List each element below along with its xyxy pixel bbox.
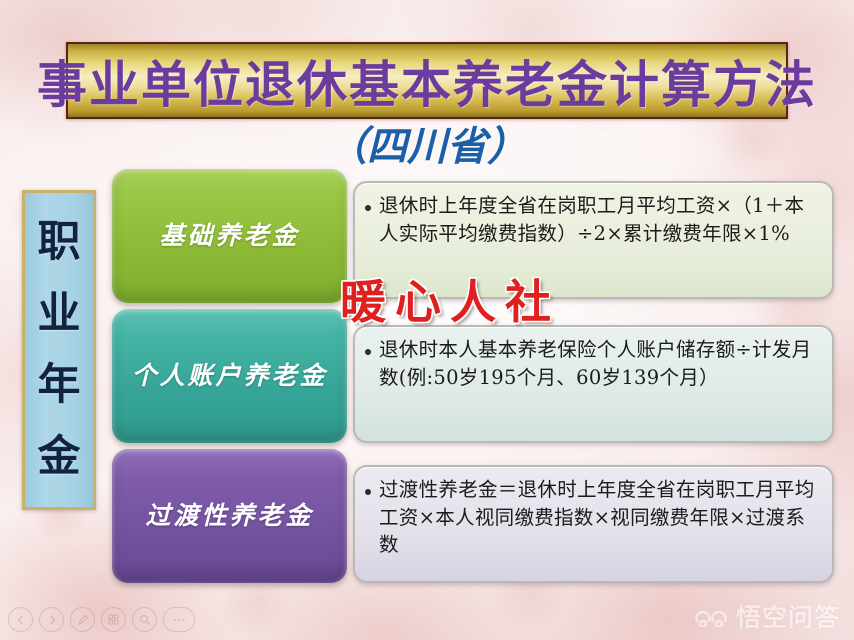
pen-icon	[77, 614, 89, 626]
presentation-controls[interactable]	[8, 607, 195, 632]
brand-watermark: 悟空问答	[694, 598, 840, 634]
ellipsis-icon	[171, 617, 187, 623]
title-banner	[66, 42, 788, 119]
chevron-right-icon	[47, 615, 57, 625]
bullet-icon	[365, 349, 371, 355]
next-slide-button[interactable]	[39, 607, 64, 632]
all-slides-button[interactable]	[101, 607, 126, 632]
description-text-basic-pension: 退休时上年度全省在岗职工月平均工资×（1＋本人实际平均缴费指数）÷2×累计缴费年…	[379, 192, 820, 247]
magnifier-icon	[139, 614, 151, 626]
bullet-icon	[365, 489, 371, 495]
bullet-icon	[365, 205, 371, 211]
side-label-char-4: 金	[38, 436, 81, 479]
previous-slide-button[interactable]	[8, 607, 33, 632]
pen-tool-button[interactable]	[70, 607, 95, 632]
side-label-occupational-annuity: 职 业 年 金	[22, 190, 96, 510]
description-box-basic-pension: 退休时上年度全省在岗职工月平均工资×（1＋本人实际平均缴费指数）÷2×累计缴费年…	[353, 181, 834, 299]
chevron-left-icon	[16, 615, 26, 625]
description-box-transitional-pension: 过渡性养老金＝退休时上年度全省在岗职工月平均工资×本人视同缴费指数×视同缴费年限…	[353, 465, 834, 583]
grid-icon	[108, 614, 119, 625]
category-box-personal-account-pension: 个人账户养老金	[112, 309, 347, 443]
side-label-char-3: 年	[38, 364, 81, 407]
more-options-button[interactable]	[163, 607, 195, 632]
description-box-personal-account-pension: 退休时本人基本养老保险个人账户储存额÷计发月数(例:50岁195个月、60岁13…	[353, 325, 834, 443]
side-label-char-2: 业	[38, 293, 81, 336]
description-text-transitional-pension: 过渡性养老金＝退休时上年度全省在岗职工月平均工资×本人视同缴费指数×视同缴费年限…	[379, 476, 820, 559]
category-box-transitional-pension: 过渡性养老金	[112, 449, 347, 583]
presentation-slide: 事业单位退休基本养老金计算方法 （四川省） 职 业 年 金 基础养老金 个人账户…	[0, 0, 854, 640]
side-label-char-1: 职	[38, 221, 81, 264]
wukong-cloud-logo-icon	[694, 605, 728, 627]
description-text-personal-account-pension: 退休时本人基本养老保险个人账户储存额÷计发月数(例:50岁195个月、60岁13…	[379, 336, 820, 391]
category-box-basic-pension: 基础养老金	[112, 169, 347, 303]
brand-label: 悟空问答	[736, 598, 840, 634]
zoom-button[interactable]	[132, 607, 157, 632]
